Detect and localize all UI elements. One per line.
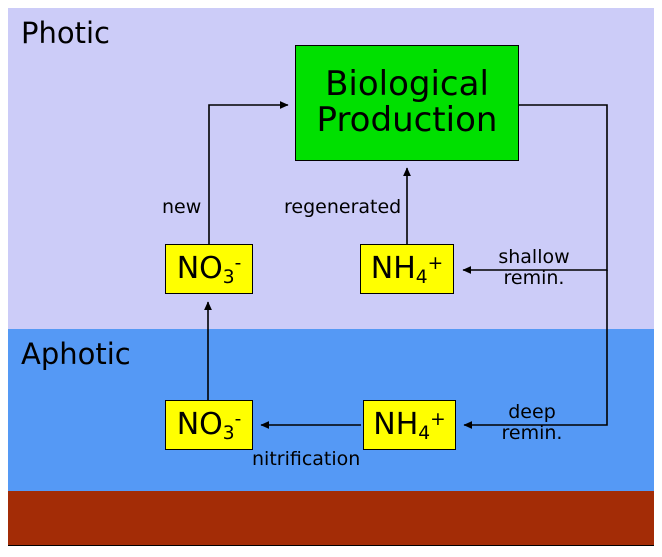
- flow-label-deep-remin-line2: remin.: [497, 423, 567, 444]
- flow-label-shallow-remin: shallow remin.: [495, 247, 573, 288]
- nitrate-charge-photic: -: [235, 253, 242, 274]
- sediment-band: [8, 491, 654, 546]
- flow-label-nitrification: nitrification: [252, 449, 360, 470]
- ammonium-charge-aphotic: +: [430, 409, 446, 430]
- biological-production-line2: Production: [317, 103, 498, 139]
- ammonium-base-aphotic: NH: [373, 407, 418, 442]
- biological-production-line1: Biological: [325, 67, 489, 103]
- ammonium-charge-photic: +: [428, 253, 444, 274]
- nitrate-formula-aphotic: NO3-: [177, 409, 242, 441]
- flow-label-shallow-remin-line1: shallow: [495, 247, 573, 268]
- nitrate-charge-aphotic: -: [235, 409, 242, 430]
- nitrate-base-aphotic: NO: [177, 407, 223, 442]
- aphotic-zone-label: Aphotic: [21, 340, 131, 369]
- ammonium-subscript-photic: 4: [416, 267, 428, 288]
- ammonium-base-photic: NH: [371, 251, 416, 286]
- nitrate-box-aphotic[interactable]: NO3-: [165, 400, 253, 450]
- photic-zone-label: Photic: [21, 19, 110, 48]
- flow-label-deep-remin-line1: deep: [497, 402, 567, 423]
- nitrate-box-photic[interactable]: NO3-: [165, 244, 253, 294]
- ammonium-box-aphotic[interactable]: NH4+: [363, 400, 456, 450]
- nitrate-formula-photic: NO3-: [177, 253, 242, 285]
- flow-label-new: new: [162, 197, 201, 218]
- ammonium-formula-aphotic: NH4+: [373, 409, 445, 441]
- nitrogen-cycle-diagram: Photic Aphotic: [0, 0, 662, 557]
- flow-label-shallow-remin-line2: remin.: [495, 268, 573, 289]
- nitrate-subscript-aphotic: 3: [223, 423, 235, 444]
- flow-label-regenerated: regenerated: [284, 197, 401, 218]
- nitrate-base-photic: NO: [177, 251, 223, 286]
- ammonium-formula-photic: NH4+: [371, 253, 443, 285]
- flow-label-deep-remin: deep remin.: [497, 402, 567, 443]
- biological-production-box[interactable]: Biological Production: [295, 45, 519, 161]
- nitrate-subscript-photic: 3: [223, 267, 235, 288]
- ammonium-subscript-aphotic: 4: [418, 423, 430, 444]
- ammonium-box-photic[interactable]: NH4+: [360, 244, 454, 294]
